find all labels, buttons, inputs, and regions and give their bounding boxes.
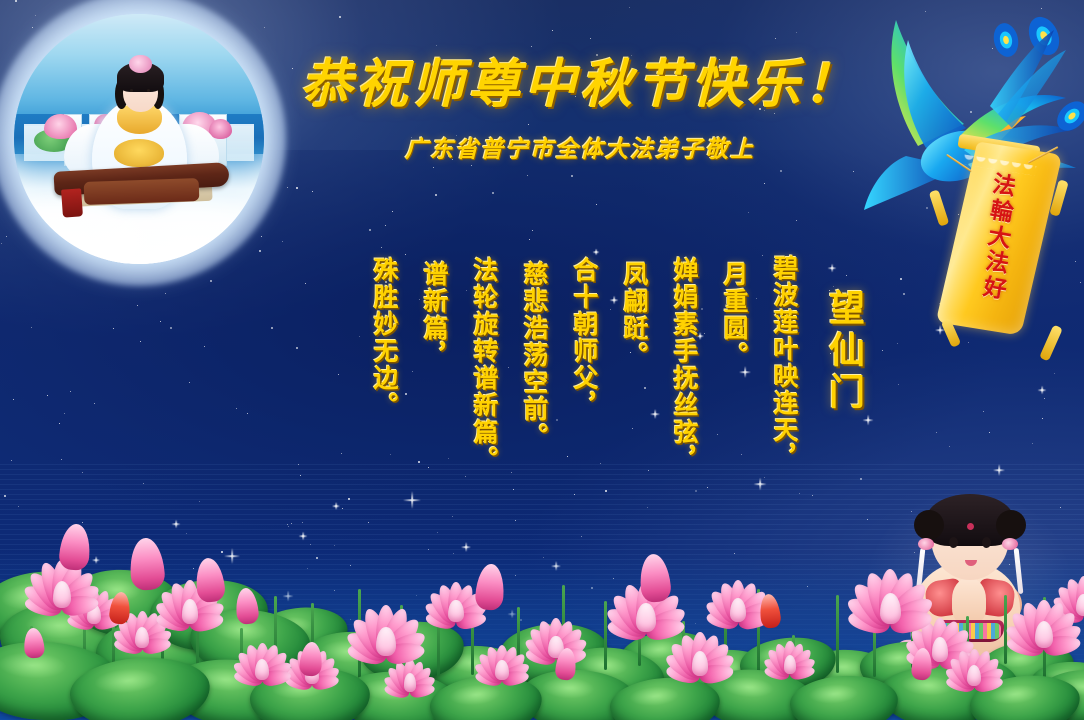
- lotus-stem: [836, 595, 839, 673]
- greeting-card: 法輪大法好 恭祝师尊中秋节快乐！ 广东省普宁市全体大法弟子敬上 望仙门碧波莲叶映…: [0, 0, 1084, 720]
- lotus-flower: [470, 648, 534, 680]
- child-hair-flower-left: [918, 538, 934, 550]
- lotus-petal-center: [784, 655, 797, 674]
- lotus-flower: [18, 564, 106, 608]
- lotus-bud: [758, 593, 781, 629]
- lotus-petal-center: [495, 660, 508, 680]
- banner-text: 法輪大法好: [941, 140, 1058, 337]
- poem-title: 望仙门: [800, 289, 866, 415]
- moon-disc: [14, 14, 264, 264]
- sparkle-star: [1038, 386, 1047, 395]
- poem-line: 谱新篇，: [400, 261, 450, 369]
- lotus-flower: [840, 574, 940, 624]
- lotus-stem: [873, 626, 876, 677]
- lotus-petal-center: [376, 627, 395, 656]
- poem-line: 法轮旋转谱新篇。: [450, 257, 500, 473]
- child-hair-flower-right: [1002, 538, 1018, 550]
- poem-line: 合十朝师父，: [550, 257, 600, 419]
- poem-line: 慈悲浩荡空前。: [500, 261, 550, 450]
- moon-scene: [14, 14, 264, 264]
- guqin-tassel: [61, 188, 83, 217]
- poem-line: 月重圆。: [700, 261, 750, 369]
- lotus-flower: [380, 662, 440, 692]
- poem-line: 婵娟素手抚丝弦，: [650, 257, 700, 473]
- lotus-flower: [760, 644, 820, 674]
- lotus-flower: [660, 636, 740, 676]
- lotus-flower: [228, 646, 296, 680]
- lotus-petal-center: [448, 600, 463, 622]
- lotus-petal-center: [880, 593, 901, 624]
- lotus-bud: [638, 553, 672, 603]
- lotus-bud: [58, 523, 92, 571]
- page-title: 恭祝师尊中秋节快乐！: [290, 42, 870, 117]
- page-subtitle: 广东省普宁市全体大法弟子敬上: [290, 130, 870, 164]
- fairy-sash: [114, 139, 164, 167]
- child-eye-right: [982, 537, 991, 548]
- fairy-eye: [147, 89, 150, 92]
- falun-dafa-banner: 法輪大法好: [956, 146, 1042, 331]
- lotus-flower: [340, 610, 432, 656]
- child-eye-left: [949, 537, 958, 548]
- banner-char: 好: [981, 276, 1008, 303]
- poem-line: 碧波莲叶映连天，: [750, 255, 800, 471]
- phoenix-figure: 法輪大法好: [840, 0, 1084, 336]
- fairy-hair-flower: [129, 55, 152, 73]
- child-forehead-dot: [967, 523, 974, 530]
- lotus-bud: [128, 537, 166, 591]
- lotus-flower: [940, 652, 1008, 686]
- lotus-petal-center: [730, 598, 746, 622]
- poem-line: 殊胜妙无边。: [350, 257, 400, 419]
- vertical-poem: 望仙门碧波莲叶映连天，月重圆。婵娟素手抚丝弦，凤翩跹。合十朝师父，慈悲浩荡空前。…: [270, 255, 870, 525]
- lotus-petal-center: [636, 603, 655, 632]
- lotus-bud: [474, 563, 505, 611]
- child-heshi-hands: [952, 578, 986, 624]
- lotus-bud: [194, 557, 226, 604]
- lotus-flower: [1000, 604, 1084, 648]
- poem-line: 凤翩跹。: [600, 261, 650, 369]
- child-hair-bun-right: [996, 510, 1026, 540]
- child-hair-bun-left: [914, 510, 944, 540]
- lotus-petal-center: [404, 673, 417, 692]
- guqin-soundboard: [84, 178, 200, 204]
